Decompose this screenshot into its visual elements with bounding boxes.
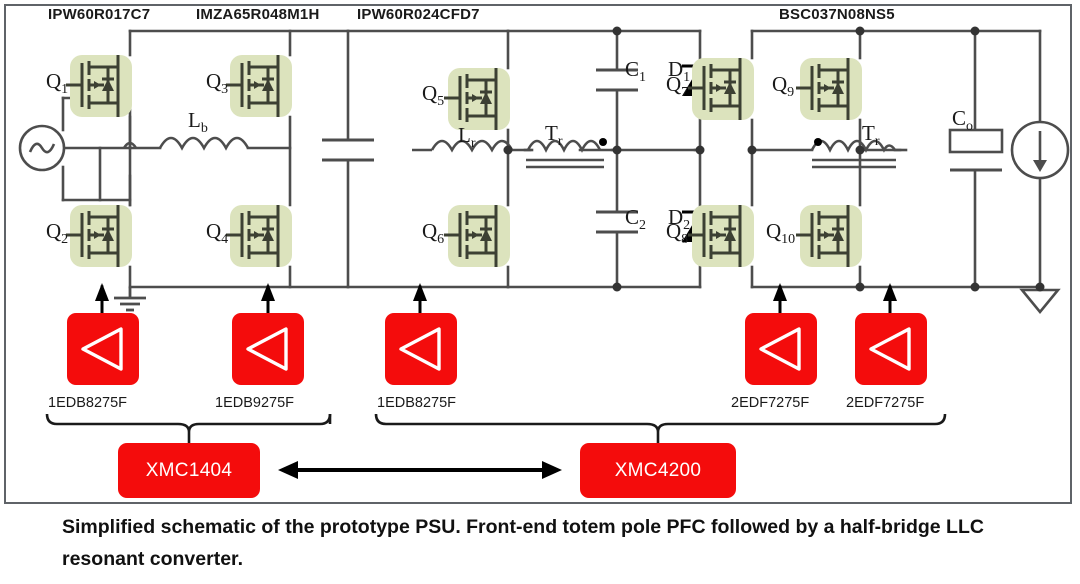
gate-driver-q6-icon[interactable] (385, 313, 457, 385)
boost-inductor-label: Lb (188, 108, 208, 136)
gate-driver-q4-label: 1EDB9275F (215, 395, 294, 411)
mosfet-q4-label: Q4 (206, 219, 228, 247)
mosfet-q1-label: Q1 (46, 69, 68, 97)
mosfet-q9-label: Q9 (772, 72, 794, 100)
controller-xmc4200-label: XMC4200 (615, 460, 702, 482)
controller-xmc1404[interactable]: XMC1404 (118, 443, 260, 498)
part-label-llc-primary: IPW60R024CFD7 (357, 6, 480, 23)
part-label-pfc-fast-leg: IMZA65R048M1H (196, 6, 319, 23)
amplifier-triangle-icon (855, 313, 927, 385)
gate-driver-q8-label: 2EDF7275F (731, 395, 809, 411)
gate-driver-q10-label: 2EDF7275F (846, 395, 924, 411)
part-label-sr-secondary: BSC037N08NS5 (779, 6, 895, 23)
mosfet-q3-label: Q3 (206, 69, 228, 97)
diode-d2-label: D2 (668, 205, 690, 233)
diode-d1-label: D1 (668, 57, 690, 85)
amplifier-triangle-icon (67, 313, 139, 385)
gate-driver-q6-label: 1EDB8275F (377, 395, 456, 411)
gate-driver-q10-icon[interactable] (855, 313, 927, 385)
mosfet-q6-label: Q6 (422, 219, 444, 247)
gate-driver-q2-label: 1EDB8275F (48, 395, 127, 411)
secondary-transformer-label: Tr (862, 121, 880, 149)
mosfet-q5-label: Q5 (422, 81, 444, 109)
mosfet-q2-label: Q2 (46, 219, 68, 247)
label-layer: Q1 Q2 Q3 Q4 Q5 Q6 Q7 Q8 Q9 Q10 Lb Lr Tr … (0, 0, 1068, 500)
primary-transformer-label: Tr (545, 121, 563, 149)
gate-driver-q8-icon[interactable] (745, 313, 817, 385)
gate-driver-q2-icon[interactable] (67, 313, 139, 385)
amplifier-triangle-icon (385, 313, 457, 385)
controller-xmc4200[interactable]: XMC4200 (580, 443, 736, 498)
controller-xmc1404-label: XMC1404 (146, 460, 233, 482)
figure-caption: Simplified schematic of the prototype PS… (62, 512, 1022, 575)
resonant-inductor-label: Lr (458, 123, 476, 151)
part-label-pfc-slow-leg: IPW60R017C7 (48, 6, 150, 23)
gate-driver-q4-icon[interactable] (232, 313, 304, 385)
capacitor-c1-label: C1 (625, 57, 646, 85)
figure-root: Q1 Q2 Q3 Q4 Q5 Q6 Q7 Q8 Q9 Q10 Lb Lr Tr … (0, 0, 1080, 584)
amplifier-triangle-icon (232, 313, 304, 385)
capacitor-co-label: Co (952, 106, 973, 134)
amplifier-triangle-icon (745, 313, 817, 385)
mosfet-q10-label: Q10 (766, 219, 795, 247)
capacitor-c2-label: C2 (625, 205, 646, 233)
